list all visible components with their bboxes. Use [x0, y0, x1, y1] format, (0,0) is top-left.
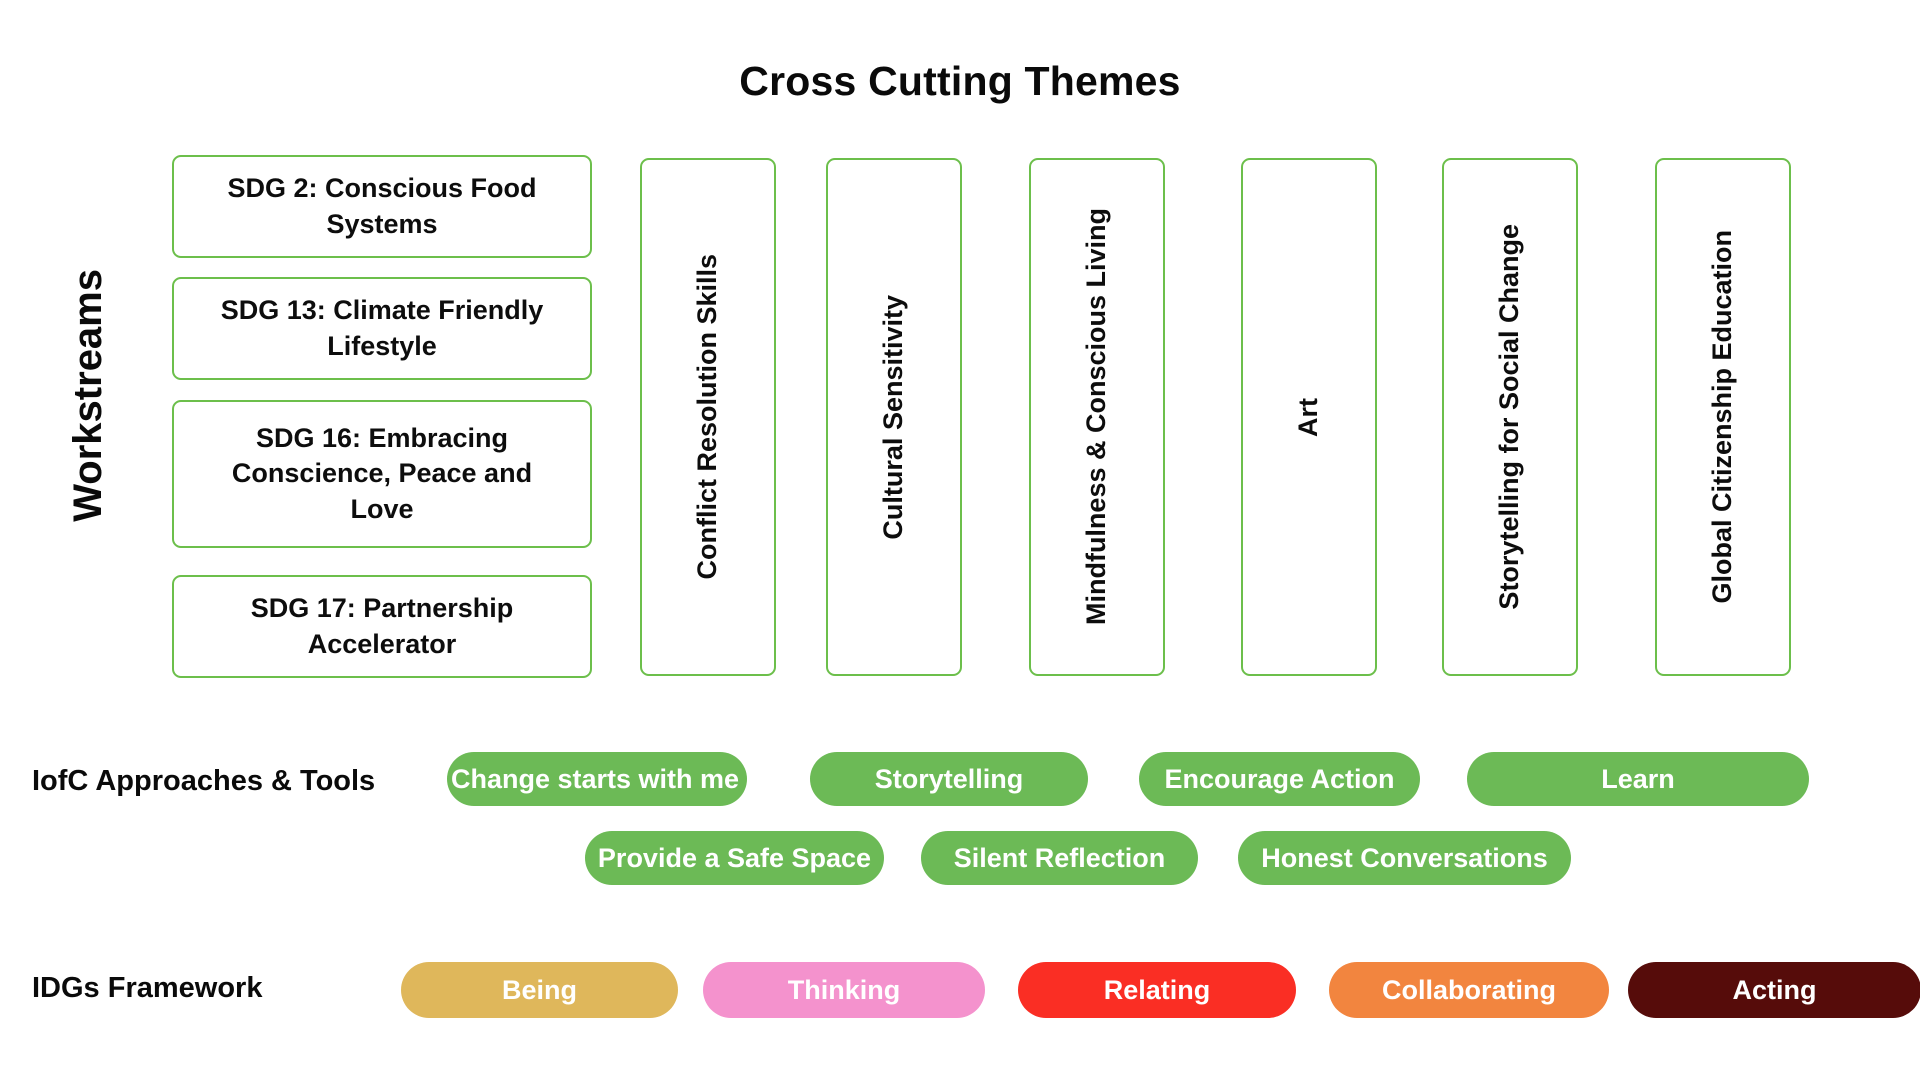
workstream-box-label: SDG 13: Climate Friendly Lifestyle: [200, 293, 564, 363]
idg-pill-label: Acting: [1733, 975, 1817, 1006]
idg-pill[interactable]: Thinking: [703, 962, 985, 1018]
workstream-box-label: SDG 2: Conscious Food Systems: [200, 171, 564, 241]
theme-column-label: Art: [1291, 398, 1327, 437]
theme-column[interactable]: Art: [1241, 158, 1377, 676]
idgs-row-label: IDGs Framework: [32, 972, 262, 1005]
iofc-pill[interactable]: Silent Reflection: [921, 831, 1198, 885]
idg-pill-label: Relating: [1104, 975, 1211, 1006]
iofc-pill-label: Learn: [1601, 764, 1675, 795]
workstream-box[interactable]: SDG 2: Conscious Food Systems: [172, 155, 592, 258]
theme-column-label: Mindfulness & Conscious Living: [1079, 208, 1115, 625]
iofc-pill-label: Encourage Action: [1164, 764, 1394, 795]
theme-column-label: Conflict Resolution Skills: [690, 254, 726, 580]
theme-column[interactable]: Conflict Resolution Skills: [640, 158, 776, 676]
workstream-box-label: SDG 16: Embracing Conscience, Peace and …: [200, 421, 564, 526]
theme-column-label: Storytelling for Social Change: [1492, 224, 1528, 610]
theme-column-label: Cultural Sensitivity: [876, 295, 912, 540]
workstream-box[interactable]: SDG 13: Climate Friendly Lifestyle: [172, 277, 592, 380]
iofc-pill-label: Honest Conversations: [1261, 843, 1548, 874]
idg-pill[interactable]: Collaborating: [1329, 962, 1609, 1018]
workstreams-axis-label: Workstreams: [28, 155, 148, 635]
idg-pill-label: Collaborating: [1382, 975, 1556, 1006]
iofc-pill-label: Silent Reflection: [954, 843, 1166, 874]
idg-pill[interactable]: Being: [401, 962, 678, 1018]
idg-pill[interactable]: Acting: [1628, 962, 1920, 1018]
iofc-pill[interactable]: Change starts with me: [447, 752, 747, 806]
iofc-row-label: IofC Approaches & Tools: [32, 765, 375, 798]
iofc-pill[interactable]: Provide a Safe Space: [585, 831, 884, 885]
iofc-pill-label: Change starts with me: [451, 764, 739, 795]
idg-pill-label: Thinking: [788, 975, 900, 1006]
workstream-box[interactable]: SDG 16: Embracing Conscience, Peace and …: [172, 400, 592, 548]
page-title: Cross Cutting Themes: [0, 58, 1920, 105]
iofc-pill-label: Provide a Safe Space: [598, 843, 871, 874]
iofc-pill[interactable]: Encourage Action: [1139, 752, 1420, 806]
theme-column[interactable]: Mindfulness & Conscious Living: [1029, 158, 1165, 676]
iofc-pill[interactable]: Learn: [1467, 752, 1809, 806]
iofc-pill[interactable]: Honest Conversations: [1238, 831, 1571, 885]
workstreams-axis-label-text: Workstreams: [66, 269, 111, 522]
workstream-box-label: SDG 17: Partnership Accelerator: [200, 591, 564, 661]
theme-column[interactable]: Storytelling for Social Change: [1442, 158, 1578, 676]
theme-column-label: Global Citizenship Education: [1705, 230, 1741, 604]
workstream-box[interactable]: SDG 17: Partnership Accelerator: [172, 575, 592, 678]
theme-column[interactable]: Global Citizenship Education: [1655, 158, 1791, 676]
idg-pill-label: Being: [502, 975, 577, 1006]
iofc-pill-label: Storytelling: [875, 764, 1024, 795]
idg-pill[interactable]: Relating: [1018, 962, 1296, 1018]
iofc-pill[interactable]: Storytelling: [810, 752, 1088, 806]
theme-column[interactable]: Cultural Sensitivity: [826, 158, 962, 676]
